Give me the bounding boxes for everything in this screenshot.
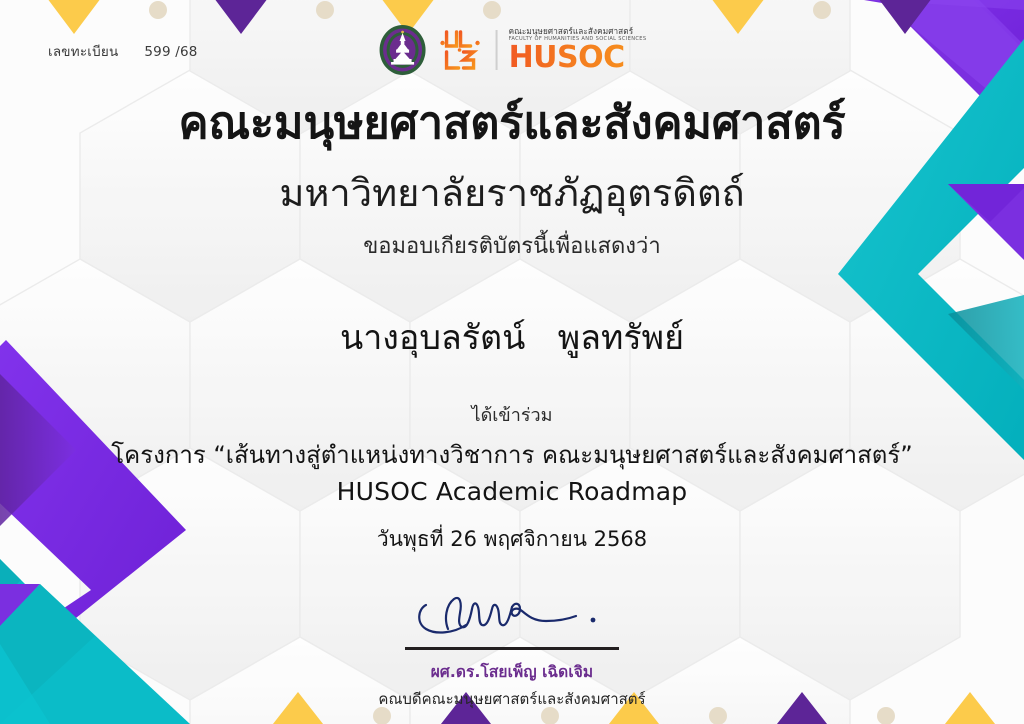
registration-label: เลขทะเบียน	[48, 44, 118, 60]
certificate: เลขทะเบียน599 /68	[0, 0, 1024, 724]
husoc-logo: คณะมนุษยศาสตร์และสังคมศาสตร์ FACULTY OF …	[378, 24, 647, 76]
registration-number: เลขทะเบียน599 /68	[48, 40, 198, 62]
signatory-title: คณบดีคณะมนุษยศาสตร์และสังคมศาสตร์	[378, 687, 645, 711]
handwritten-signature-icon	[412, 585, 612, 645]
signatory-name: ผศ.ดร.โสยเพ็ญ เฉิดเจิม	[431, 659, 594, 684]
event-date: วันพุธที่ 26 พฤศจิกายน 2568	[0, 523, 1024, 556]
logo-faculty-thai: คณะมนุษยศาสตร์และสังคมศาสตร์	[509, 27, 647, 36]
registration-value: 599 /68	[144, 44, 197, 60]
page-title-university: มหาวิทยาลัยราชภัฏอุตรดิตถ์	[0, 172, 1024, 215]
logo-text-block: คณะมนุษยศาสตร์และสังคมศาสตร์ FACULTY OF …	[509, 27, 647, 74]
participation-label: ได้เข้าร่วม	[0, 400, 1024, 429]
certificate-content: เลขทะเบียน599 /68	[0, 0, 1024, 724]
logo-wordmark: HUSOC	[509, 43, 647, 73]
signature-block: ผศ.ดร.โสยเพ็ญ เฉิดเจิม คณบดีคณะมนุษยศาสต…	[0, 585, 1024, 711]
logo-divider	[496, 30, 498, 70]
husoc-thai-monogram-icon	[437, 26, 485, 74]
project-title-english: HUSOC Academic Roadmap	[0, 477, 1024, 506]
signature-line	[405, 647, 619, 650]
project-title-thai: โครงการ “เส้นทางสู่ตำแหน่งทางวิชาการ คณะ…	[0, 435, 1024, 474]
university-seal-icon	[378, 24, 428, 76]
award-phrase: ขอมอบเกียรติบัตรนี้เพื่อแสดงว่า	[0, 228, 1024, 263]
recipient-name: นางอุบลรัตน์ พูลทรัพย์	[0, 310, 1024, 364]
page-title-faculty: คณะมนุษยศาสตร์และสังคมศาสตร์	[0, 98, 1024, 148]
